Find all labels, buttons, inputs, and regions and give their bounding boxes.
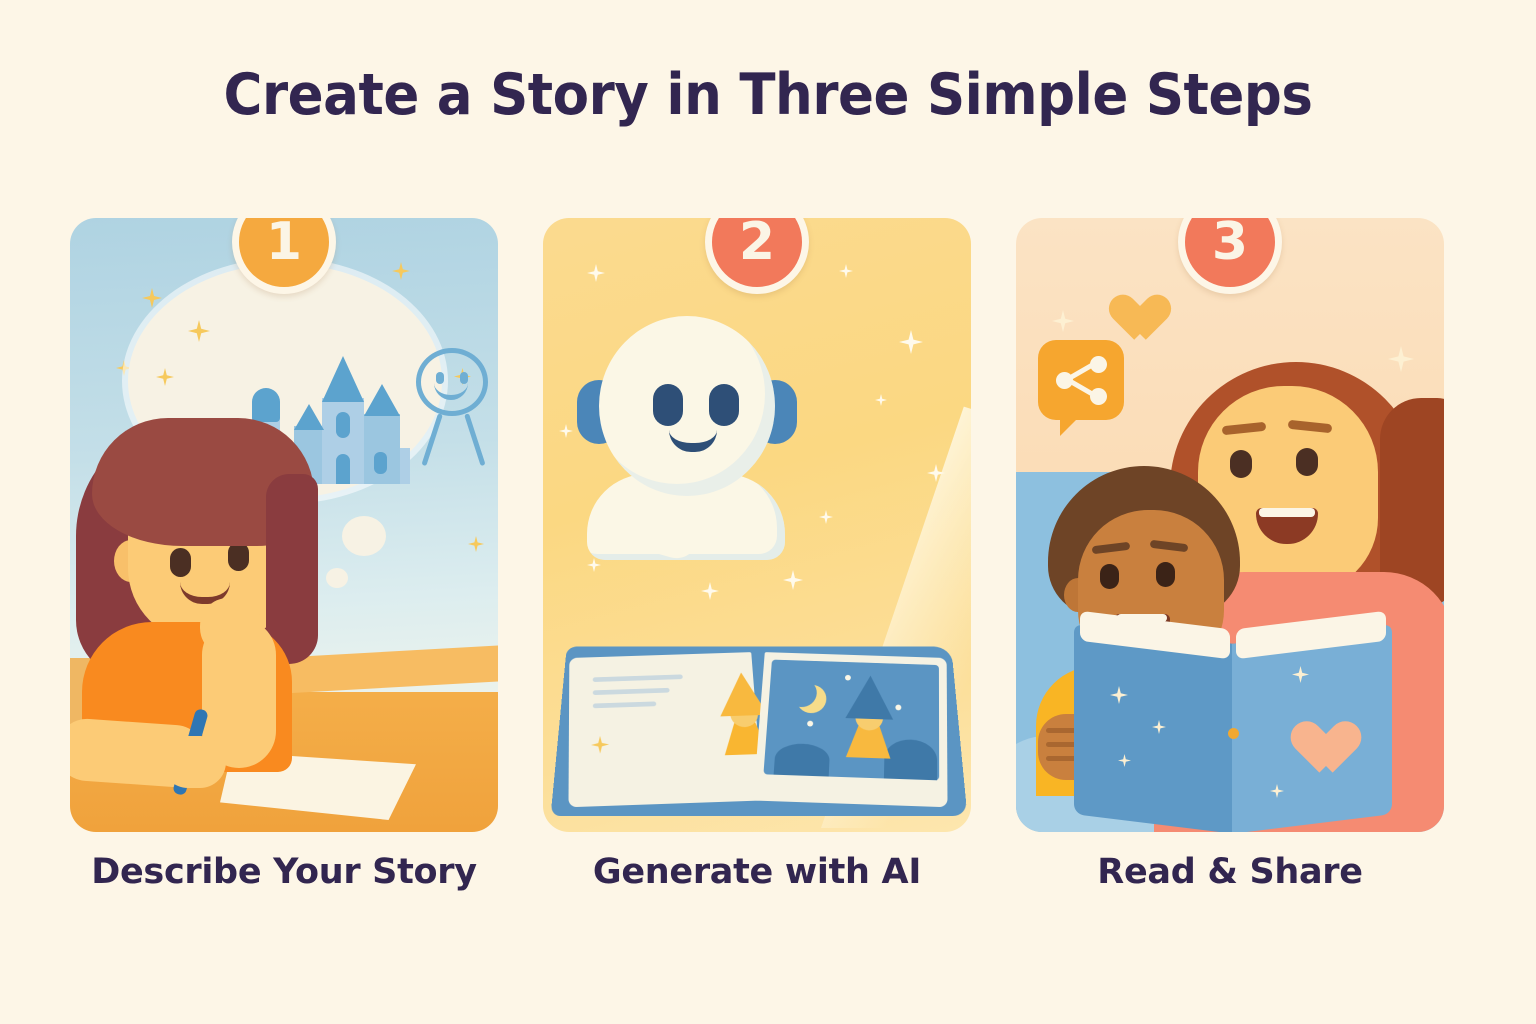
robot-character bbox=[577, 296, 797, 546]
sparkle-icon bbox=[783, 570, 803, 590]
crescent-moon-icon bbox=[786, 678, 817, 707]
book-right-page bbox=[753, 652, 947, 807]
steps-panel-row: 1 bbox=[70, 218, 1466, 832]
sparkle-icon bbox=[839, 264, 853, 278]
sparkle-icon bbox=[701, 582, 719, 600]
step-badge-3: 3 bbox=[1178, 218, 1282, 294]
sparkle-icon bbox=[392, 262, 410, 280]
captions-row: Describe Your Story Generate with AI Rea… bbox=[70, 852, 1466, 892]
thought-bubble-dot bbox=[342, 516, 386, 556]
sparkle-icon bbox=[587, 264, 605, 282]
sparkle-icon bbox=[188, 320, 210, 342]
smiley-stick-figure-icon bbox=[412, 348, 492, 470]
step-panel-3[interactable]: 3 bbox=[1016, 218, 1444, 832]
wizard-illustration bbox=[840, 675, 898, 757]
infographic-page: Create a Story in Three Simple Steps bbox=[0, 0, 1536, 1024]
girl-character bbox=[76, 412, 346, 832]
sparkle-icon bbox=[899, 330, 923, 354]
sparkle-icon bbox=[819, 510, 833, 524]
step-badge-2: 2 bbox=[705, 218, 809, 294]
step-panel-1[interactable]: 1 bbox=[70, 218, 498, 832]
open-storybook bbox=[559, 606, 959, 816]
share-speech-bubble[interactable] bbox=[1038, 340, 1124, 420]
sparkle-icon bbox=[156, 368, 174, 386]
sparkle-icon bbox=[587, 558, 601, 572]
heart-icon bbox=[1100, 276, 1154, 324]
page-title: Create a Story in Three Simple Steps bbox=[54, 62, 1482, 128]
sparkle-icon bbox=[559, 424, 573, 438]
sparkle-icon bbox=[142, 288, 162, 308]
caption-step-3: Read & Share bbox=[1016, 852, 1444, 892]
caption-step-1: Describe Your Story bbox=[70, 852, 498, 892]
book-cover-heart-icon bbox=[1280, 700, 1342, 756]
sparkle-icon bbox=[875, 394, 887, 406]
caption-step-2: Generate with AI bbox=[543, 852, 971, 892]
step-panel-2[interactable]: 2 bbox=[543, 218, 971, 832]
book-left-page bbox=[568, 652, 762, 807]
sparkle-icon bbox=[1052, 310, 1074, 332]
blue-storybook bbox=[1074, 628, 1394, 824]
sparkle-icon bbox=[468, 536, 484, 552]
